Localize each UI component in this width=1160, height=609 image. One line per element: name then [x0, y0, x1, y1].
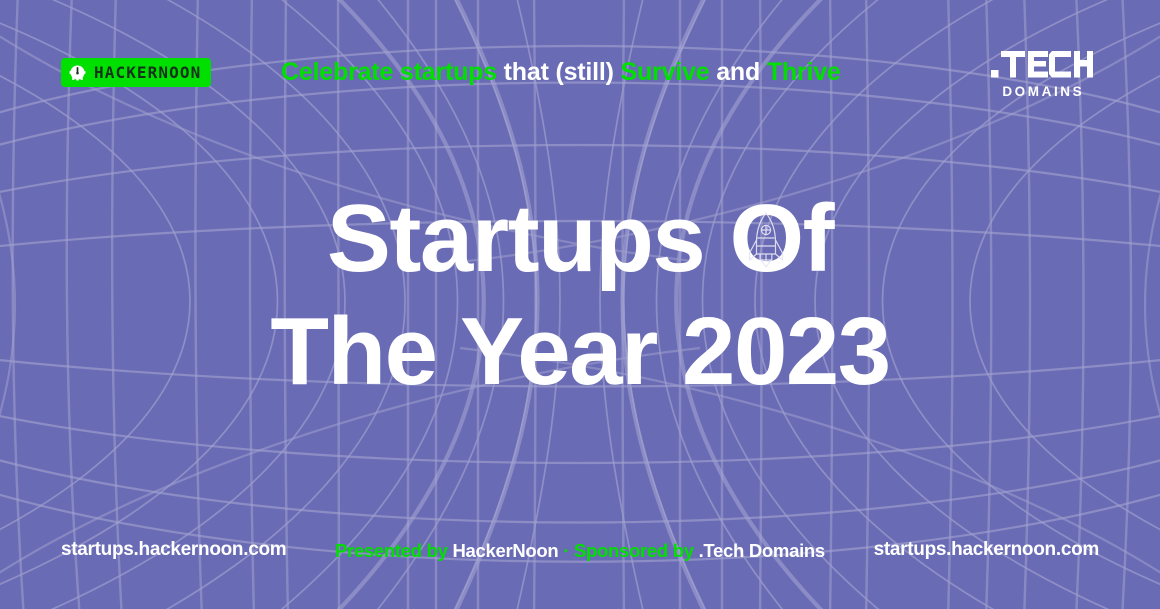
- footer-credits: Presented by HackerNoon · Sponsored by .…: [335, 538, 825, 564]
- startups-of-the-year-banner: HACKERNOON Celebrate startups that (stil…: [0, 0, 1160, 609]
- tagline: Celebrate startups that (still) Survive …: [281, 57, 841, 87]
- tagline-segment-4: and: [716, 58, 760, 86]
- tagline-segment-5: Thrive: [767, 58, 841, 86]
- tech-wordmark-icon: [991, 48, 1093, 79]
- headline-o-with-rocket: O: [729, 182, 802, 295]
- headline-line-1: Startups O f: [0, 182, 1160, 295]
- credits-separator: ·: [563, 540, 569, 561]
- hackernoon-robot-icon: [68, 63, 87, 82]
- headline-line1-after-o: f: [803, 185, 833, 292]
- hackernoon-logo[interactable]: HACKERNOON: [61, 58, 211, 87]
- tech-domains-subtitle: DOMAINS: [982, 85, 1102, 99]
- headline-letter-o: O: [729, 185, 802, 292]
- sponsor-name: .Tech Domains: [699, 540, 825, 561]
- tech-domains-logo[interactable]: DOMAINS: [982, 48, 1102, 99]
- banner-header: HACKERNOON Celebrate startups that (stil…: [0, 0, 1160, 130]
- presented-by-label: Presented by: [335, 540, 448, 561]
- presenter-name: HackerNoon: [452, 540, 558, 561]
- hackernoon-wordmark: HACKERNOON: [94, 65, 201, 81]
- banner-footer: startups.hackernoon.com Presented by Hac…: [0, 537, 1160, 563]
- sponsored-by-label: Sponsored by: [574, 540, 694, 561]
- tagline-segment-3: Survive: [621, 58, 710, 86]
- headline-line-2: The Year 2023: [0, 295, 1160, 408]
- footer-url-right[interactable]: startups.hackernoon.com: [874, 537, 1099, 563]
- tagline-segment-2: that (still): [504, 58, 614, 86]
- headline-line1-before-o: Startups: [327, 185, 730, 292]
- page-title: Startups O f The Year 2023: [0, 182, 1160, 408]
- footer-url-left[interactable]: startups.hackernoon.com: [61, 537, 286, 563]
- tagline-segment-1: Celebrate startups: [281, 58, 497, 86]
